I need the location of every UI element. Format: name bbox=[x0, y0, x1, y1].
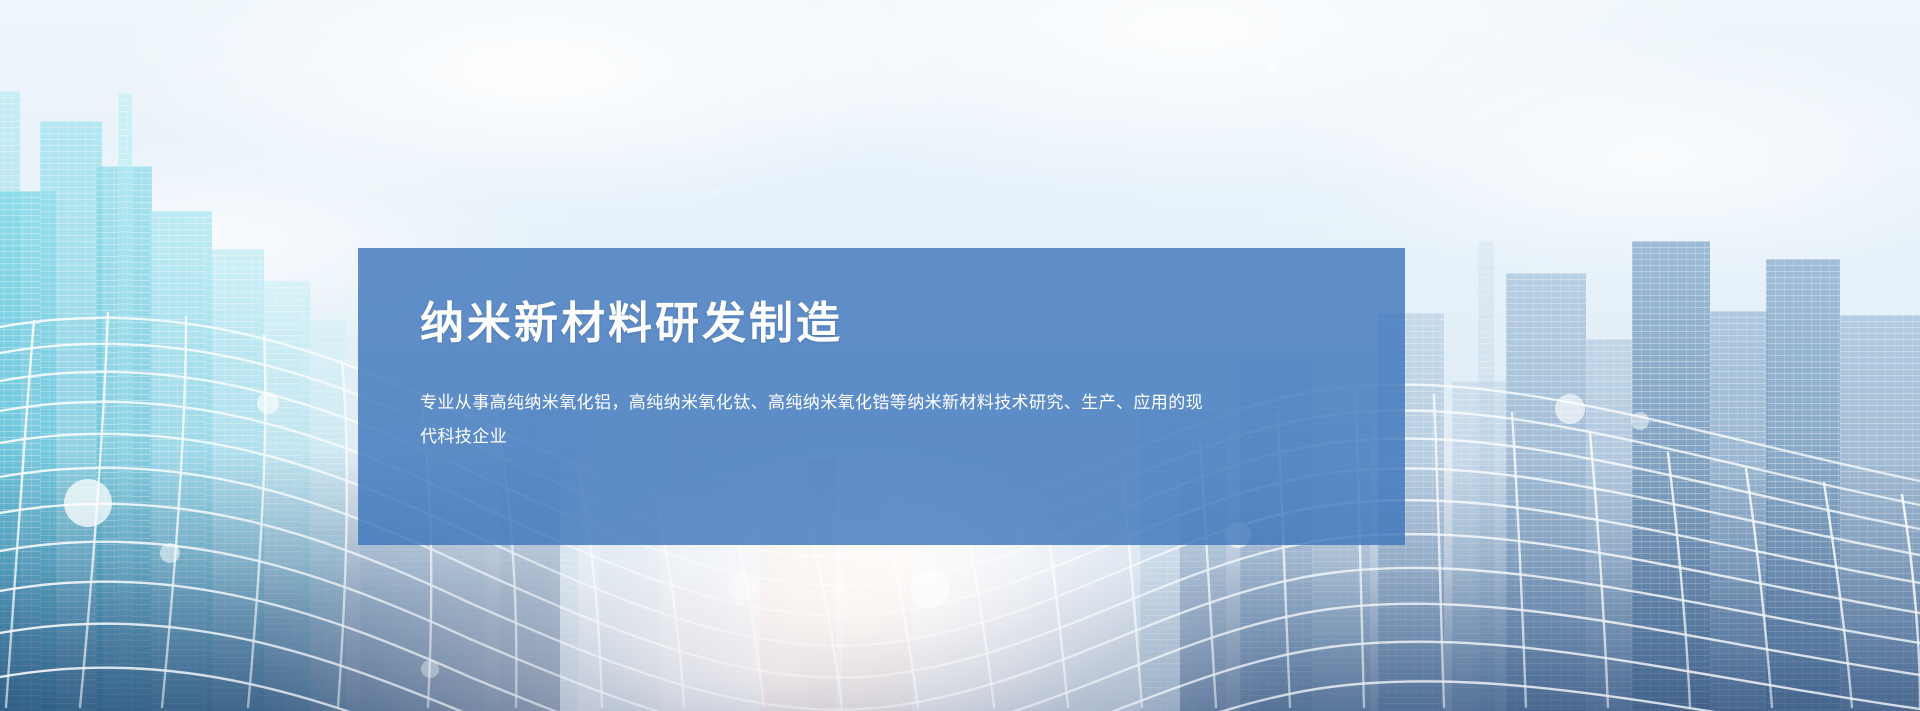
hero-text-panel: 纳米新材料研发制造 专业从事高纯纳米氧化铝，高纯纳米氧化钛、高纯纳米氧化锆等纳米… bbox=[358, 248, 1405, 545]
page-title: 纳米新材料研发制造 bbox=[420, 300, 1347, 348]
hero-description: 专业从事高纯纳米氧化铝，高纯纳米氧化钛、高纯纳米氧化锆等纳米新材料技术研究、生产… bbox=[420, 386, 1210, 454]
hero-banner: 纳米新材料研发制造 专业从事高纯纳米氧化铝，高纯纳米氧化钛、高纯纳米氧化锆等纳米… bbox=[0, 0, 1920, 711]
bokeh-dot-3 bbox=[712, 188, 718, 194]
hero-text-container: 纳米新材料研发制造 专业从事高纯纳米氧化铝，高纯纳米氧化钛、高纯纳米氧化锆等纳米… bbox=[358, 248, 1405, 454]
bokeh-dot-2 bbox=[1498, 36, 1505, 43]
bokeh-dot-1 bbox=[1268, 62, 1277, 71]
